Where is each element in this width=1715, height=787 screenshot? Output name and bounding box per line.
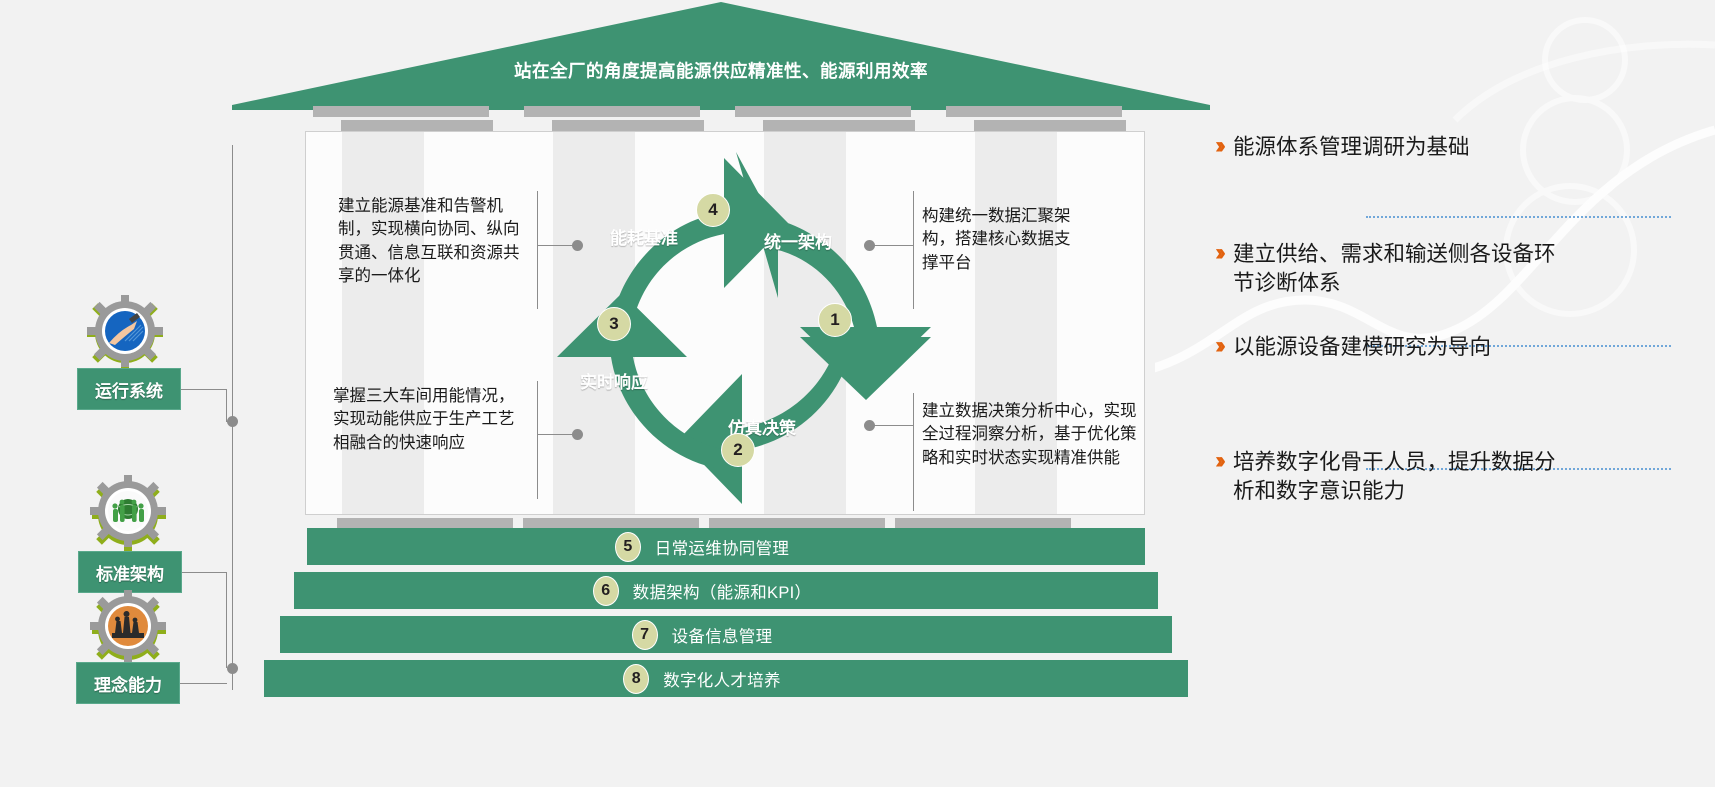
sidebar-dot-1 [227, 416, 238, 427]
cycle-badge-4: 4 [696, 193, 730, 227]
sidebar-label-operations: 运行系统 [95, 377, 163, 402]
sidebar-item-capability[interactable]: 理念能力 [76, 662, 180, 704]
right-bullet-2[interactable]: ›› 建立供给、需求和输送侧各设备环节诊断体系 [1215, 240, 1575, 297]
step-label-6: 数据架构（能源和KPI） [633, 579, 812, 603]
callout-leader-top-left [537, 245, 577, 246]
right-bullet-text-3: 以能源设备建模研究为导向 [1233, 333, 1491, 362]
cap-slab-6 [552, 120, 704, 131]
double-chevron-icon-1: ›› [1215, 133, 1221, 158]
sidebar-connector-2-v [226, 572, 227, 668]
sidebar-item-standards[interactable]: 标准架构 [78, 551, 182, 593]
cap-slab-2 [524, 106, 700, 117]
step-row-6[interactable]: 6 数据架构（能源和KPI） [294, 572, 1158, 609]
right-bullet-text-2: 建立供给、需求和输送侧各设备环节诊断体系 [1233, 240, 1575, 297]
cycle-diagram: 统一架构 仿真决策 实时响应 能耗基准 1 2 3 4 [536, 140, 936, 515]
callout-bottom-left: 掌握三大车间用能情况，实现动能供应于生产工艺相融合的快速响应 [333, 385, 529, 455]
right-bullet-1[interactable]: ›› 能源体系管理调研为基础 [1215, 133, 1575, 162]
step-number-6: 6 [593, 576, 619, 606]
step-row-7[interactable]: 7 设备信息管理 [280, 616, 1172, 653]
double-chevron-icon-4: ›› [1215, 448, 1221, 473]
double-chevron-icon-2: ›› [1215, 240, 1221, 265]
sidebar-item-operations[interactable]: 运行系统 [77, 368, 181, 410]
callout-rule-bottom-right [913, 393, 914, 511]
cap-slab-5 [341, 120, 493, 131]
right-bullet-3[interactable]: ›› 以能源设备建模研究为导向 [1215, 333, 1575, 362]
step-row-8[interactable]: 8 数字化人才培养 [264, 660, 1188, 697]
gear-people-globe-icon [88, 473, 168, 553]
callout-top-right: 构建统一数据汇聚架构，搭建核心数据支撑平台 [922, 205, 1082, 275]
callout-bottom-right: 建立数据决策分析中心，实现全过程洞察分析，基于优化策略和实时状态实现精准供能 [922, 400, 1138, 470]
callout-dot-top-right [864, 240, 875, 251]
callout-dot-bottom-left [572, 429, 583, 440]
step-number-7: 7 [632, 620, 658, 650]
cycle-label-4: 能耗基准 [610, 224, 678, 249]
callout-leader-top-right [874, 245, 914, 246]
double-chevron-icon-3: ›› [1215, 333, 1221, 358]
sidebar-label-capability: 理念能力 [94, 671, 162, 696]
step-number-8: 8 [623, 664, 649, 694]
callout-dot-top-left [572, 240, 583, 251]
cap-slab-8 [974, 120, 1126, 131]
sidebar-connector-1-h [181, 389, 226, 390]
callout-rule-top-left [537, 191, 538, 309]
step-row-5[interactable]: 5 日常运维协同管理 [307, 528, 1145, 565]
sidebar-label-standards: 标准架构 [96, 560, 164, 585]
cap-slab-1 [313, 106, 489, 117]
sidebar-connector-2-h [182, 572, 226, 573]
sidebar-dot-2 [227, 663, 238, 674]
pillar-1 [342, 132, 424, 515]
roof-shape [232, 2, 1210, 110]
callout-top-left: 建立能源基准和告警机制，实现横向协同、纵向贯通、信息互联和资源共享的一体化 [338, 195, 530, 289]
right-bullet-text-4: 培养数字化骨干人员，提升数据分析和数字意识能力 [1233, 448, 1575, 505]
cycle-label-1: 统一架构 [764, 228, 832, 253]
callout-leader-bottom-right [874, 425, 914, 426]
cap-slab-4 [946, 106, 1122, 117]
bullet-separator-1 [1366, 216, 1671, 218]
cycle-label-3: 实时响应 [580, 368, 648, 393]
cap-slab-7 [763, 120, 915, 131]
step-number-5: 5 [615, 532, 641, 562]
cycle-badge-2: 2 [721, 433, 755, 467]
step-label-8: 数字化人才培养 [663, 667, 781, 691]
sidebar-connector-1-v [226, 389, 227, 421]
cycle-badge-1: 1 [818, 303, 852, 337]
step-label-7: 设备信息管理 [672, 623, 773, 647]
callout-leader-bottom-left [537, 434, 577, 435]
right-bullet-text-1: 能源体系管理调研为基础 [1233, 133, 1470, 162]
right-bullet-4[interactable]: ›› 培养数字化骨干人员，提升数据分析和数字意识能力 [1215, 448, 1575, 505]
cap-slab-3 [735, 106, 911, 117]
gear-hand-chart-icon [85, 293, 165, 373]
roof-title: 站在全厂的角度提高能源供应精准性、能源利用效率 [232, 58, 1210, 83]
step-label-5: 日常运维协同管理 [655, 535, 789, 559]
callout-rule-top-right [913, 191, 914, 309]
callout-rule-bottom-left [537, 381, 538, 499]
decorative-swoosh [1155, 0, 1715, 787]
callout-dot-bottom-right [864, 420, 875, 431]
slide-canvas: 站在全厂的角度提高能源供应精准性、能源利用效率 [0, 0, 1715, 787]
cycle-badge-3: 3 [597, 307, 631, 341]
sidebar-connector-3-h [180, 683, 227, 684]
gear-chess-icon [88, 588, 168, 668]
